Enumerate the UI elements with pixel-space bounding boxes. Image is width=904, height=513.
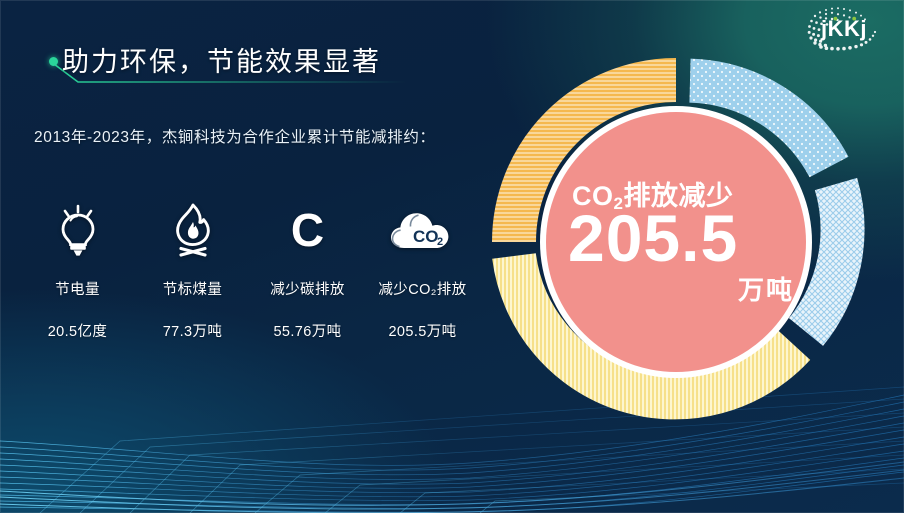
stat-label: 减少CO₂排放 (378, 278, 466, 299)
stat-label: 节标煤量 (163, 278, 223, 299)
page-title-text: 助力环保，节能效果显著 (62, 40, 381, 79)
intro-paragraph: 2013年-2023年，杰锏科技为合作企业累计节能减排约： (34, 124, 474, 151)
stat-item-electricity: 节电量 20.5亿度 (20, 200, 135, 341)
stats-row: 节电量 20.5亿度 节标煤量 77.3万吨 C 减少碳排放 (20, 200, 480, 341)
logo-wordmark: jKKj (820, 16, 867, 41)
carbon-letter-icon: C (291, 200, 324, 260)
stat-item-co2: CO 2 减少CO₂排放 205.5万吨 (365, 200, 480, 341)
stat-value: 20.5亿度 (48, 320, 108, 341)
stat-value: 77.3万吨 (163, 320, 223, 341)
stat-label: 减少碳排放 (270, 278, 345, 299)
svg-text:2: 2 (437, 236, 443, 248)
donut-segment-blue-crosshatch (806, 184, 843, 332)
flame-icon (169, 200, 217, 260)
stat-item-carbon: C 减少碳排放 55.76万吨 (250, 200, 365, 341)
lightbulb-icon (56, 200, 100, 260)
carbon-letter-glyph: C (291, 202, 324, 258)
brand-logo: jKKj (800, 4, 886, 54)
stat-value: 55.76万吨 (273, 320, 341, 341)
stat-label: 节电量 (55, 278, 100, 299)
co2-cloud-icon: CO 2 (388, 200, 458, 260)
stat-value: 205.5万吨 (388, 320, 456, 341)
donut-center-disc (546, 112, 806, 372)
slide-root: 助力环保，节能效果显著 2013年-2023年，杰锏科技为合作企业累计节能减排约… (0, 0, 904, 513)
stat-item-coal: 节标煤量 77.3万吨 (135, 200, 250, 341)
svg-text:CO: CO (413, 227, 439, 246)
donut-chart (476, 42, 876, 442)
